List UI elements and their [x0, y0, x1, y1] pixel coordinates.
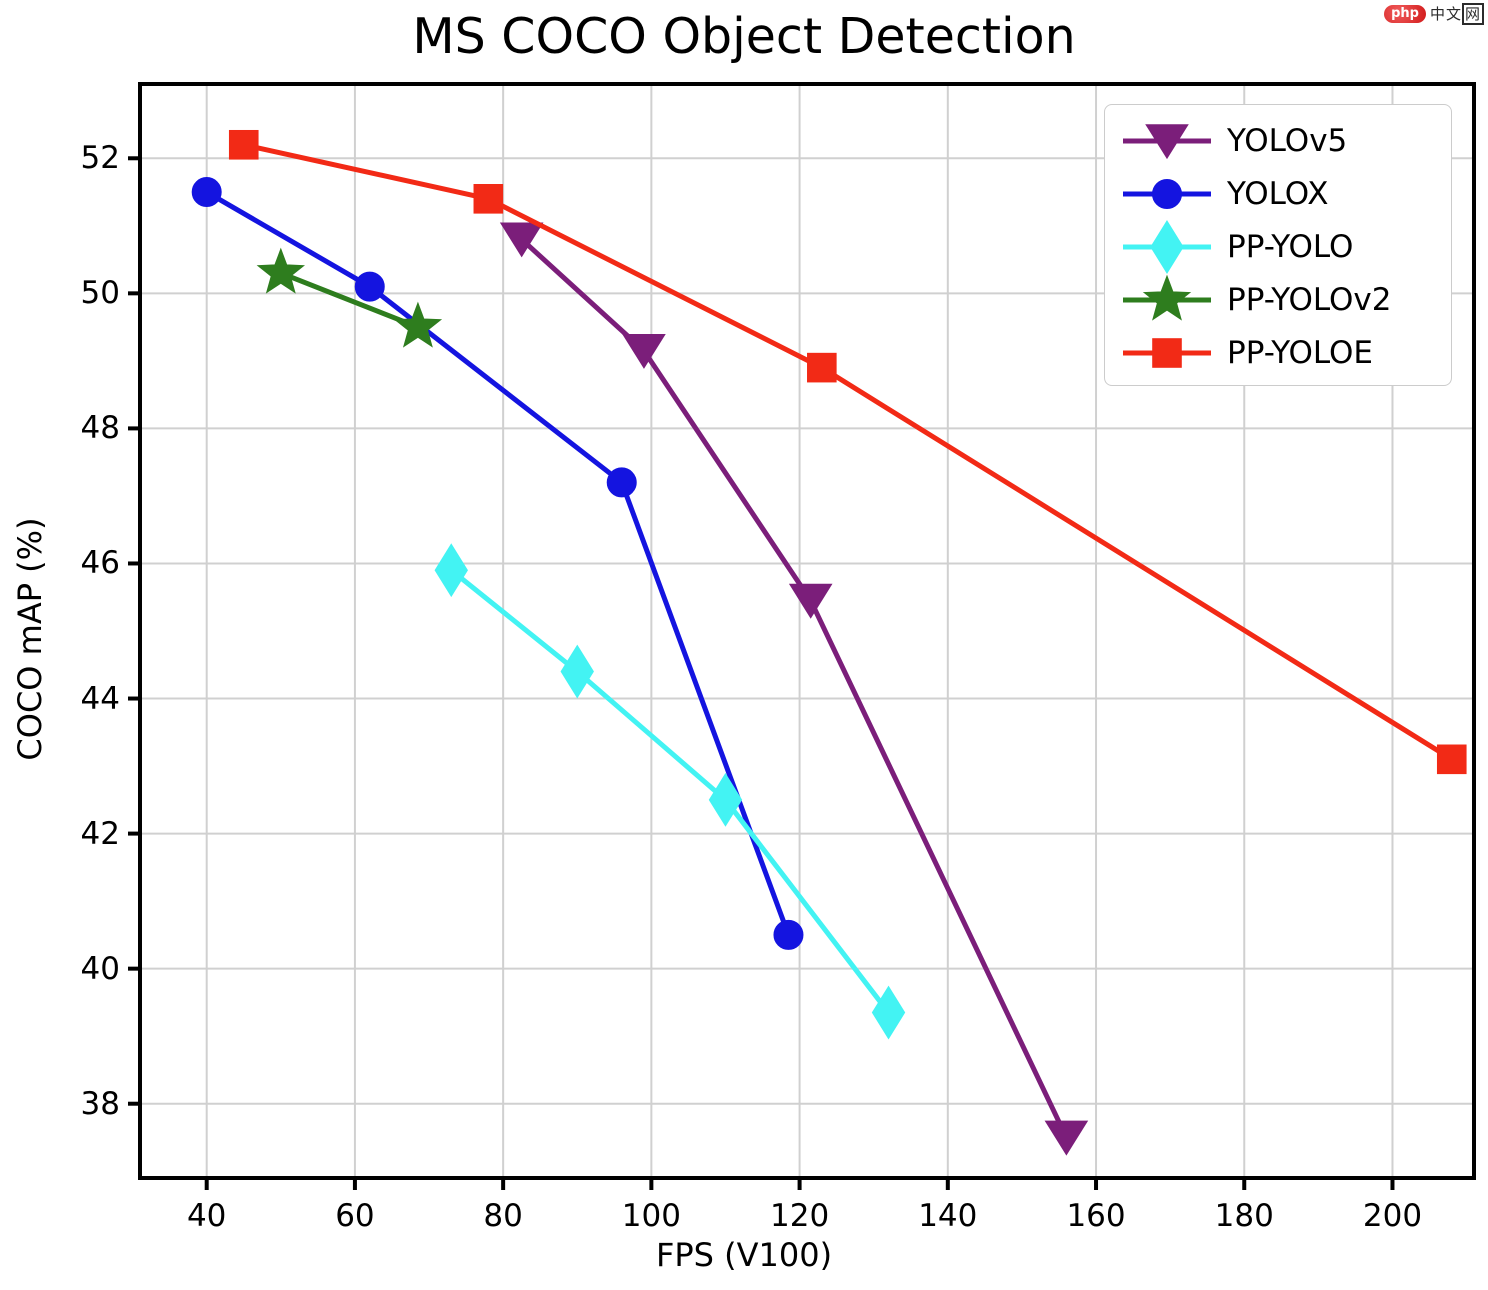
legend-item-yolox[interactable]: YOLOX: [1105, 166, 1453, 222]
legend-label: YOLOv5: [1227, 123, 1347, 159]
legend-marker-icon: [1119, 272, 1215, 328]
x-tick-label: 80: [483, 1198, 522, 1234]
y-tick-label: 38: [20, 1086, 120, 1122]
legend-item-pp-yoloe[interactable]: PP-YOLOE: [1105, 325, 1453, 381]
x-tick-label: 60: [335, 1198, 374, 1234]
x-tick-label: 100: [622, 1198, 681, 1234]
x-tick-label: 160: [1066, 1198, 1125, 1234]
y-tick-label: 40: [20, 951, 120, 987]
legend-label: PP-YOLOE: [1227, 335, 1373, 371]
series-line: [281, 273, 418, 327]
y-axis-label: COCO mAP (%): [11, 399, 49, 879]
data-point-marker: [192, 178, 221, 207]
series-line: [451, 570, 888, 1012]
watermark: php 中文网: [1384, 3, 1484, 25]
x-tick-label: 180: [1215, 1198, 1274, 1234]
series-yolov5: [501, 223, 1088, 1155]
data-point-marker: [774, 920, 803, 949]
y-tick-label: 50: [20, 275, 120, 311]
legend-item-pp-yolo[interactable]: PP-YOLO: [1105, 219, 1453, 275]
y-tick-label: 52: [20, 140, 120, 176]
data-point-marker: [623, 334, 665, 367]
x-tick-label: 200: [1363, 1198, 1422, 1234]
data-point-marker: [607, 468, 636, 497]
php-badge-icon: php: [1384, 5, 1426, 23]
data-point-marker: [229, 130, 258, 159]
legend-item-yolov5[interactable]: YOLOv5: [1105, 113, 1453, 169]
data-point-marker: [790, 584, 832, 617]
data-point-marker: [561, 646, 593, 698]
series-line: [522, 239, 1067, 1137]
legend-marker-icon: [1119, 166, 1215, 222]
x-tick-label: 140: [918, 1198, 977, 1234]
series-pp-yolov2: [258, 249, 441, 346]
legend-item-pp-yolov2[interactable]: PP-YOLOv2: [1105, 272, 1453, 328]
legend-marker-icon: [1119, 325, 1215, 381]
data-point-marker: [474, 185, 503, 214]
data-point-marker: [258, 249, 304, 292]
watermark-text: 中文网: [1430, 6, 1484, 22]
x-axis-label: FPS (V100): [0, 1236, 1488, 1274]
legend-label: YOLOX: [1227, 176, 1328, 212]
legend-marker-icon: [1119, 219, 1215, 275]
chart-legend: YOLOv5YOLOXPP-YOLOPP-YOLOv2PP-YOLOE: [1104, 104, 1452, 386]
data-point-marker: [1045, 1121, 1087, 1154]
data-point-marker: [435, 544, 467, 596]
legend-label: PP-YOLO: [1227, 229, 1353, 265]
data-point-marker: [808, 353, 837, 382]
chart-figure: MS COCO Object Detection 406080100120140…: [0, 0, 1488, 1290]
legend-label: PP-YOLOv2: [1227, 282, 1392, 318]
x-tick-label: 40: [187, 1198, 226, 1234]
legend-marker-icon: [1119, 113, 1215, 169]
data-point-marker: [355, 272, 384, 301]
x-tick-label: 120: [770, 1198, 829, 1234]
data-point-marker: [1437, 745, 1466, 774]
